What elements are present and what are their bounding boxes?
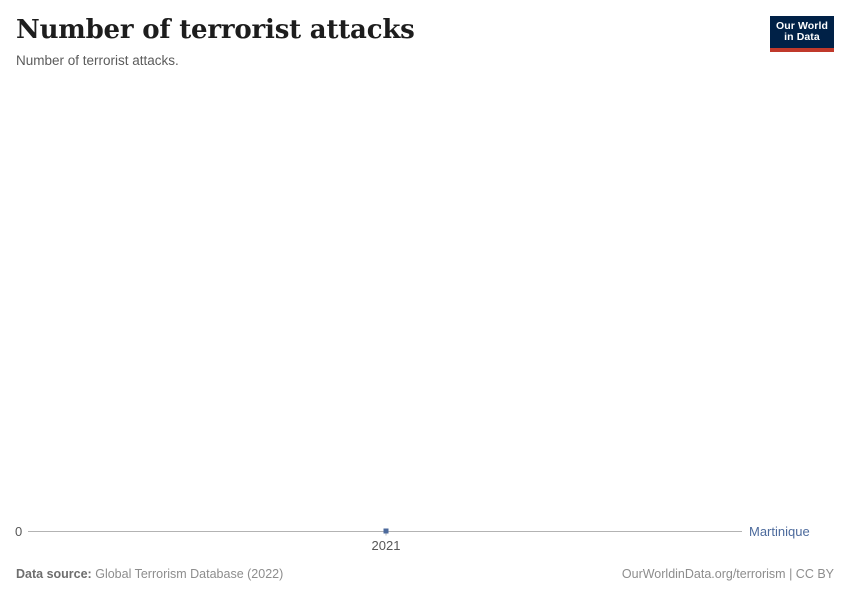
chart-svg	[0, 0, 850, 600]
x-axis-tick-label-2021: 2021	[372, 538, 401, 553]
series-label-martinique[interactable]: Martinique	[749, 524, 810, 539]
data-source-value: Global Terrorism Database (2022)	[95, 567, 283, 581]
license-link[interactable]: OurWorldinData.org/terrorism | CC BY	[622, 566, 834, 582]
y-axis-tick-label-0: 0	[15, 524, 22, 539]
data-point-martinique-2021[interactable]	[384, 529, 389, 534]
data-source-label: Data source:	[16, 567, 92, 581]
data-source: Data source: Global Terrorism Database (…	[16, 566, 283, 582]
chart-footer: Data source: Global Terrorism Database (…	[0, 566, 850, 592]
